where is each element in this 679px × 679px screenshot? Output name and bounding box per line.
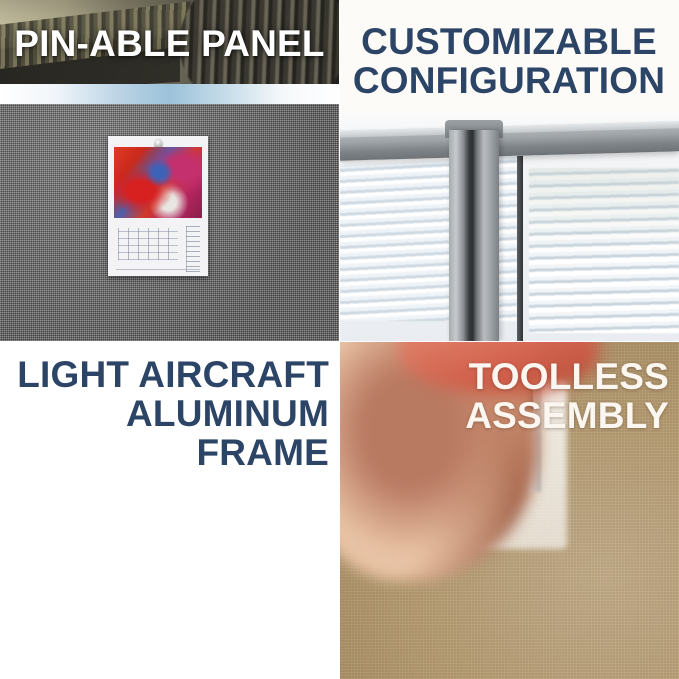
calendar-side-column bbox=[186, 226, 200, 272]
feature-collage: PIN-ABLE PANEL CUSTOMIZABLE CONFIGURATIO… bbox=[0, 0, 679, 679]
aluminum-mullion-post bbox=[449, 130, 499, 341]
vertical-divider bbox=[339, 0, 340, 679]
floor-strip bbox=[0, 84, 339, 106]
horizontal-divider bbox=[0, 341, 679, 342]
panel-customizable-configuration: CUSTOMIZABLE CONFIGURATION bbox=[339, 0, 679, 341]
window-blinds-right bbox=[529, 168, 679, 333]
panel-title-pin-able-panel: PIN-ABLE PANEL bbox=[0, 24, 339, 63]
wall-calendar bbox=[108, 136, 208, 276]
panel-title-light-aircraft-aluminum-frame: LIGHT AIRCRAFT ALUMINUM FRAME bbox=[6, 355, 329, 473]
panel-light-aircraft-aluminum-frame: LIGHT AIRCRAFT ALUMINUM FRAME bbox=[0, 341, 339, 679]
glass-jamb bbox=[517, 156, 523, 341]
calendar-date-grid bbox=[118, 228, 178, 260]
panel-pin-able-panel: PIN-ABLE PANEL bbox=[0, 0, 339, 341]
panel-toolless-assembly: TOOLLESS ASSEMBLY bbox=[339, 341, 679, 679]
calendar-artwork bbox=[114, 147, 202, 218]
panel-title-customizable-configuration: CUSTOMIZABLE CONFIGURATION bbox=[347, 22, 671, 100]
calendar-footer-rule bbox=[116, 269, 200, 270]
partition-photo bbox=[339, 112, 679, 341]
panel-title-toolless-assembly: TOOLLESS ASSEMBLY bbox=[347, 357, 669, 435]
